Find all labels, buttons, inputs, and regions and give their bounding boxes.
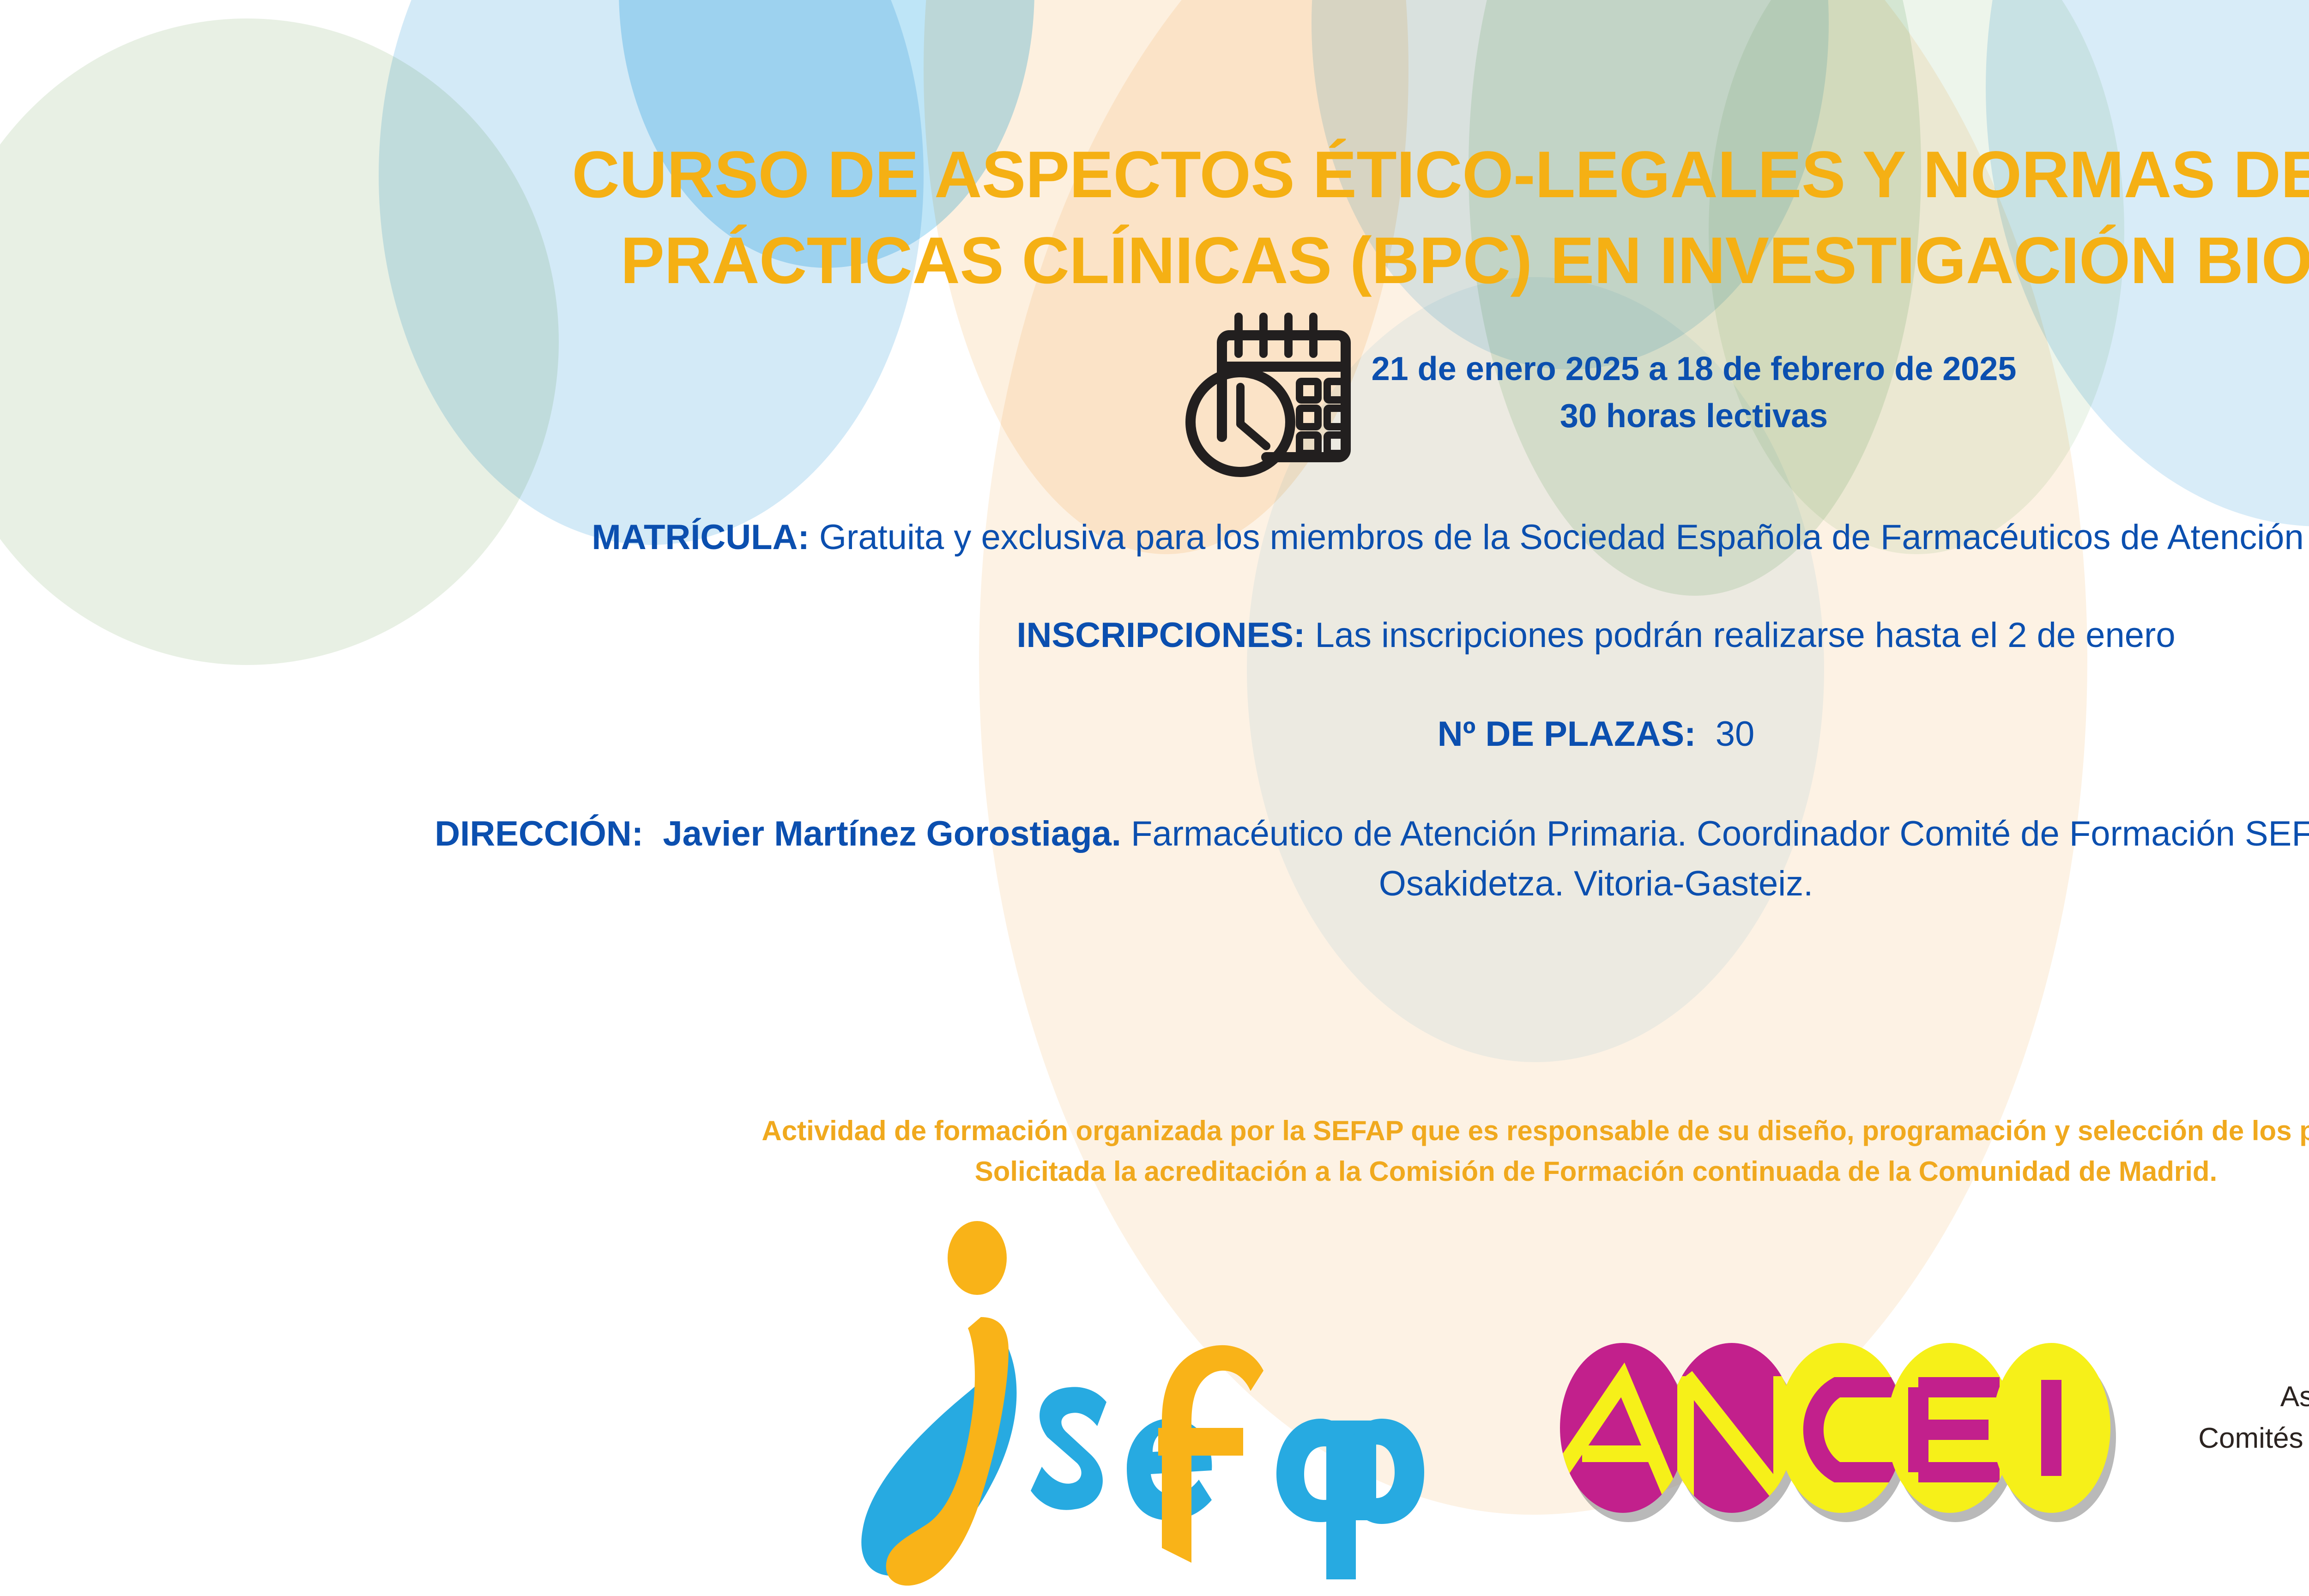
- schedule-text: 21 de enero 2025 a 18 de febrero de 2025…: [1372, 345, 2017, 440]
- direccion-label: DIRECCIÓN:: [435, 814, 643, 853]
- title-line-1: CURSO DE ASPECTOS ÉTICO-LEGALES Y NORMAS…: [0, 132, 2309, 218]
- accreditation-line-2: Solicitada la acreditación a la Comisión…: [0, 1151, 2309, 1192]
- sefap-f-crossbar: [1158, 1428, 1243, 1456]
- matricula-row: MATRÍCULA: Gratuita y exclusiva para los…: [0, 513, 2309, 562]
- direccion-row: DIRECCIÓN: Javier Martínez Gorostiaga. F…: [0, 809, 2309, 909]
- sefap-j-dot: [948, 1221, 1007, 1295]
- poster-content: CURSO DE ASPECTOS ÉTICO-LEGALES Y NORMAS…: [0, 0, 2309, 1596]
- calendar-clock-icon: [1176, 300, 1360, 485]
- direccion-name: Javier Martínez Gorostiaga.: [663, 814, 1121, 853]
- matricula-value: Gratuita y exclusiva para los miembros d…: [819, 518, 2309, 557]
- ancei-letter-a: [1556, 1343, 1686, 1513]
- direccion-value: Farmacéutico de Atención Primaria. Coord…: [1131, 814, 2309, 853]
- schedule-block: 21 de enero 2025 a 18 de febrero de 2025…: [0, 300, 2309, 485]
- ancei-logo: [1556, 1339, 2120, 1524]
- plazas-label: Nº DE PLAZAS:: [1438, 714, 1696, 754]
- inscripciones-row: INSCRIPCIONES: Las inscripciones podrán …: [0, 611, 2309, 660]
- sefap-wordmark: [1031, 1387, 1424, 1579]
- ancei-caption: Asociación Nacional de Comités de Ética …: [2120, 1376, 2309, 1459]
- course-announcement-poster: CURSO DE ASPECTOS ÉTICO-LEGALES Y NORMAS…: [0, 0, 2309, 1596]
- ancei-letter-i: [1992, 1343, 2110, 1513]
- inscripciones-value: Las inscripciones podrán realizarse hast…: [1315, 616, 2175, 655]
- sefap-logo: [822, 1210, 1432, 1596]
- course-hours: 30 horas lectivas: [1372, 393, 2017, 440]
- page-title: CURSO DE ASPECTOS ÉTICO-LEGALES Y NORMAS…: [0, 132, 2309, 304]
- title-line-2: PRÁCTICAS CLÍNICAS (BPC) EN INVESTIGACIÓ…: [0, 218, 2309, 304]
- course-dates: 21 de enero 2025 a 18 de febrero de 2025: [1372, 345, 2017, 393]
- ancei-caption-line-1: Asociación Nacional de: [2120, 1376, 2309, 1418]
- direccion-value-line2: Osakidetza. Vitoria-Gasteiz.: [0, 859, 2309, 909]
- matricula-label: MATRÍCULA:: [592, 518, 809, 557]
- inscripciones-label: INSCRIPCIONES:: [1016, 616, 1305, 655]
- plazas-row: Nº DE PLAZAS: 30: [0, 709, 2309, 759]
- plazas-value: 30: [1716, 714, 1755, 754]
- ancei-caption-line-2: Comités de Ética de la Investigación: [2120, 1418, 2309, 1459]
- ancei-letter-c: [1778, 1343, 1904, 1513]
- ancei-letter-n: [1669, 1343, 1795, 1513]
- accreditation-line-1: Actividad de formación organizada por la…: [0, 1111, 2309, 1151]
- accreditation-note: Actividad de formación organizada por la…: [0, 1111, 2309, 1191]
